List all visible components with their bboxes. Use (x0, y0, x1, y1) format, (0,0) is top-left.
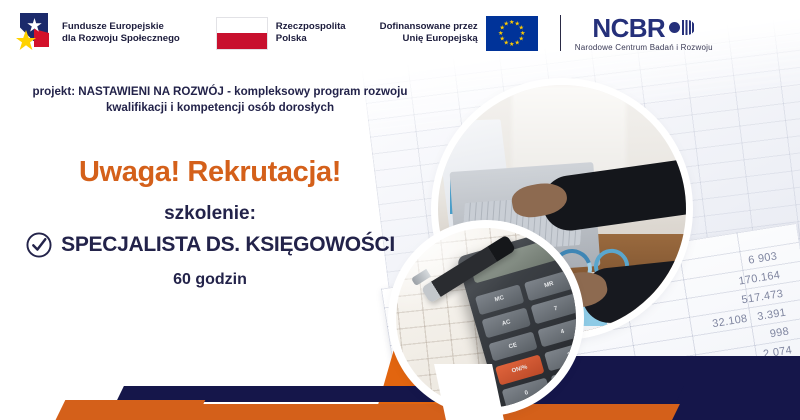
check-circle-icon (25, 231, 53, 259)
recruitment-headline-block: Uwaga! Rekrutacja! szkolenie: SPECJALIST… (0, 156, 420, 289)
eu-funds-line2: dla Rozwoju Społecznego (62, 33, 180, 45)
ncbr-subtitle: Narodowe Centrum Badań i Rozwoju (575, 43, 713, 52)
project-description: projekt: NASTAWIENI NA ROZWÓJ - kompleks… (0, 84, 440, 116)
training-label: szkolenie: (0, 203, 420, 225)
european-union-flag-icon (486, 16, 538, 51)
eu-cofinancing-line2: Unię Europejską (380, 33, 478, 45)
eu-funds-logo: Fundusze Europejskie dla Rozwoju Społecz… (14, 13, 180, 53)
decorative-orange-bar (70, 404, 680, 420)
eu-cofinancing-logo: Dofinansowane przez Unię Europejską (380, 16, 538, 51)
eu-funds-line1: Fundusze Europejskie (62, 21, 180, 33)
funding-logo-bar: Fundusze Europejskie dla Rozwoju Społecz… (0, 0, 800, 66)
poster-canvas: 6 903 170.164 517.473 32.108 3.391 998 2… (0, 0, 800, 420)
decorative-white-cut (434, 364, 504, 420)
poland-line1: Rzeczpospolita (276, 21, 346, 33)
ncbr-logo: NCBR Narodowe Centrum Badań i Rozwoju (575, 15, 713, 52)
course-name: SPECJALISTA DS. KSIĘGOWOŚCI (61, 233, 395, 257)
polish-flag-icon (216, 17, 268, 50)
poland-line2: Polska (276, 33, 346, 45)
eu-funds-logo-text: Fundusze Europejskie dla Rozwoju Społecz… (62, 21, 180, 46)
course-hours: 60 godzin (0, 271, 420, 289)
eu-funds-star-mark-icon (14, 13, 54, 53)
project-line-1: projekt: NASTAWIENI NA ROZWÓJ - kompleks… (0, 84, 440, 100)
ncbr-wordmark: NCBR (592, 15, 665, 41)
eu-cofinancing-line1: Dofinansowane przez (380, 21, 478, 33)
eu-cofinancing-text: Dofinansowane przez Unię Europejską (380, 21, 478, 46)
republic-of-poland-logo: Rzeczpospolita Polska (216, 17, 346, 50)
ncbr-circle-mark-icon (669, 20, 695, 35)
poland-logo-text: Rzeczpospolita Polska (276, 21, 346, 46)
logo-divider (560, 15, 561, 51)
project-line-2: kwalifikacji i kompetencji osób dorosłyc… (0, 100, 440, 116)
attention-heading: Uwaga! Rekrutacja! (0, 156, 420, 189)
